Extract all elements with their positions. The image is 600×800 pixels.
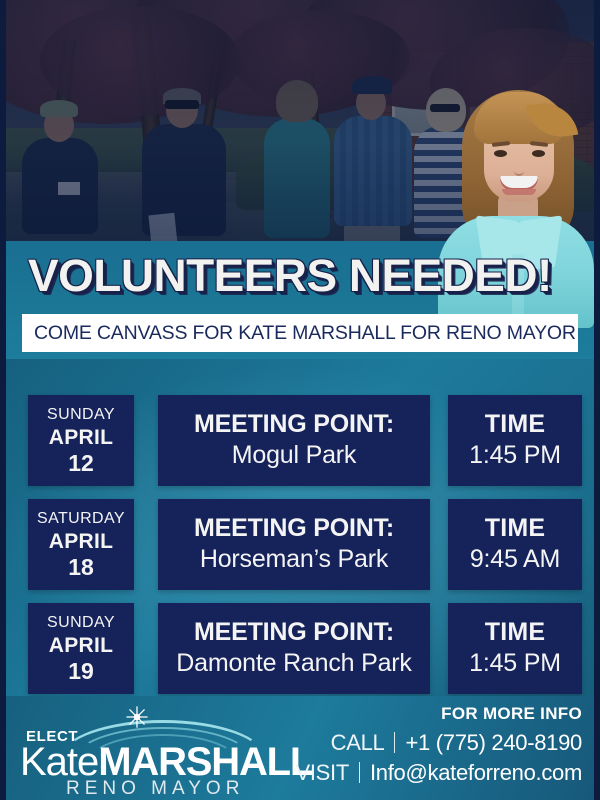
- subtitle-bar: COME CANVASS FOR KATE MARSHALL FOR RENO …: [22, 314, 578, 352]
- weekday-label: SATURDAY: [37, 510, 125, 528]
- logo-tagline: RENO MAYOR: [66, 778, 244, 800]
- date-card: SUNDAY APRIL 19: [28, 603, 134, 694]
- contact-phone-line: CALL +1 (775) 240-8190: [282, 728, 582, 758]
- schedule-row: SUNDAY APRIL 12 MEETING POINT: Mogul Par…: [28, 395, 582, 486]
- time-label: TIME: [485, 617, 546, 647]
- time-card: TIME 1:45 PM: [448, 603, 582, 694]
- time-value: 1:45 PM: [469, 647, 561, 680]
- portrait-eye-right: [532, 150, 545, 157]
- time-card: TIME 1:45 PM: [448, 395, 582, 486]
- schedule-section: SUNDAY APRIL 12 MEETING POINT: Mogul Par…: [6, 359, 594, 696]
- contact-info: FOR MORE INFO CALL +1 (775) 240-8190 VIS…: [282, 704, 582, 787]
- time-label: TIME: [485, 409, 546, 439]
- contact-email-line: VISIT Info@kateforreno.com: [282, 758, 582, 788]
- phone-number[interactable]: +1 (775) 240-8190: [405, 728, 582, 758]
- campaign-flyer: VOLUNTEERS NEEDED! COME CANVASS FOR KATE…: [0, 0, 600, 800]
- divider: [359, 762, 360, 783]
- time-card: TIME 9:45 AM: [448, 499, 582, 590]
- month-label: APRIL: [49, 633, 114, 658]
- month-label: APRIL: [49, 529, 114, 554]
- page-title: VOLUNTEERS NEEDED!: [28, 250, 552, 302]
- portrait-eye-left: [494, 150, 507, 157]
- call-label: CALL: [331, 728, 385, 758]
- day-number: 12: [68, 450, 94, 476]
- day-number: 19: [68, 658, 94, 684]
- weekday-label: SUNDAY: [47, 614, 115, 632]
- starburst-icon: [126, 706, 148, 728]
- schedule-row: SATURDAY APRIL 18 MEETING POINT: Horsema…: [28, 499, 582, 590]
- day-number: 18: [68, 554, 94, 580]
- time-value: 1:45 PM: [469, 439, 561, 472]
- date-card: SUNDAY APRIL 12: [28, 395, 134, 486]
- portrait-nose: [514, 160, 524, 176]
- weekday-label: SUNDAY: [47, 406, 115, 424]
- page-border-left: [0, 0, 6, 800]
- month-label: APRIL: [49, 425, 114, 450]
- meeting-point-card: MEETING POINT: Mogul Park: [158, 395, 430, 486]
- meeting-point-card: MEETING POINT: Horseman’s Park: [158, 499, 430, 590]
- visit-label: VISIT: [295, 758, 349, 788]
- date-card: SATURDAY APRIL 18: [28, 499, 134, 590]
- meeting-point-location: Damonte Ranch Park: [176, 647, 411, 680]
- meeting-point-label: MEETING POINT:: [194, 513, 394, 543]
- divider: [394, 732, 395, 753]
- contact-title: FOR MORE INFO: [282, 704, 582, 724]
- portrait-lower-lip: [502, 189, 536, 195]
- meeting-point-location: Horseman’s Park: [200, 543, 388, 576]
- meeting-point-location: Mogul Park: [232, 439, 356, 472]
- email-address[interactable]: Info@kateforreno.com: [370, 758, 582, 788]
- subtitle-text: COME CANVASS FOR KATE MARSHALL FOR RENO …: [22, 322, 576, 345]
- schedule-row: SUNDAY APRIL 19 MEETING POINT: Damonte R…: [28, 603, 582, 694]
- time-label: TIME: [485, 513, 546, 543]
- meeting-point-card: MEETING POINT: Damonte Ranch Park: [158, 603, 430, 694]
- campaign-logo: ELECT KateMARSHALL RENO MAYOR: [10, 704, 280, 796]
- page-border-right: [594, 0, 600, 800]
- meeting-point-label: MEETING POINT:: [194, 617, 394, 647]
- meeting-point-label: MEETING POINT:: [194, 409, 394, 439]
- time-value: 9:45 AM: [470, 543, 560, 576]
